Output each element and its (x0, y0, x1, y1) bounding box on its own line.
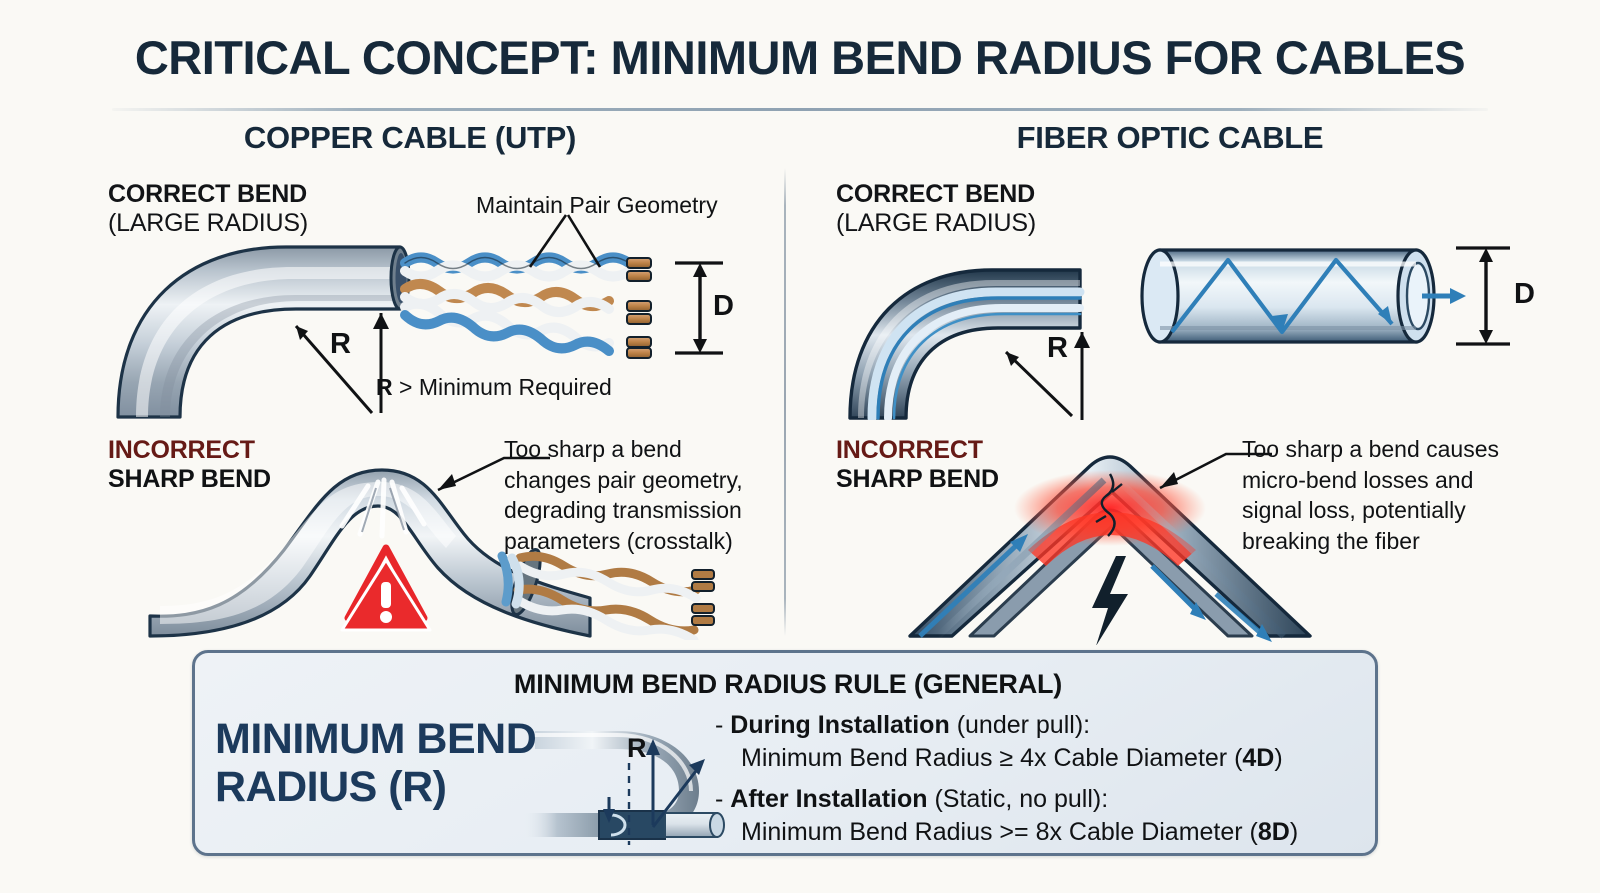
rule-item-after-title: After Installation (730, 785, 927, 813)
copper-incorrect-callout: Too sharp a bend changes pair geometry, … (504, 434, 772, 556)
rule-item-after-detail: Minimum Bend Radius >= 8x Cable Diameter… (715, 816, 1375, 849)
rule-item-during-detail: Minimum Bend Radius ≥ 4x Cable Diameter … (715, 742, 1375, 775)
title-divider (112, 108, 1488, 111)
warning-triangle-icon (342, 548, 430, 630)
rule-item-during-detail-prefix: Minimum Bend Radius ≥ 4x Cable Diameter … (741, 744, 1242, 772)
copper-diameter-letter: D (713, 290, 734, 323)
rule-item-during-detail-value: 4D (1242, 744, 1274, 772)
rule-item-after-suffix: (Static, no pull): (934, 785, 1108, 813)
infographic-root: CRITICAL CONCEPT: MINIMUM BEND RADIUS FO… (0, 0, 1600, 893)
fiber-correct-label-line1: CORRECT BEND (836, 180, 1036, 209)
fiber-correct-bend-illustration (820, 220, 1600, 420)
rule-item-after-marker: - (715, 785, 723, 813)
column-heading-copper: COPPER CABLE (UTP) (130, 120, 690, 156)
lightning-bolt-icon (1092, 556, 1128, 645)
rule-item-during-suffix: (under pull): (957, 711, 1090, 739)
rule-item-after-heading: - After Installation (Static, no pull): (715, 783, 1375, 816)
rule-box-inset-radius-letter: R (627, 733, 647, 764)
rule-item-during-title: During Installation (730, 711, 949, 739)
rule-item-during-marker: - (715, 711, 723, 739)
rule-item-after-detail-prefix: Minimum Bend Radius >= 8x Cable Diameter… (741, 818, 1258, 846)
minimum-bend-radius-rule-box: MINIMUM BEND RADIUS RULE (GENERAL) MINIM… (192, 650, 1378, 856)
rule-item-after-detail-value: 8D (1258, 818, 1290, 846)
copper-radius-note-symbol: R (376, 374, 393, 400)
column-heading-fiber: FIBER OPTIC CABLE (890, 120, 1450, 156)
maintain-pair-geometry-callout: Maintain Pair Geometry (476, 190, 718, 221)
rule-box-inset-diagram (513, 705, 725, 853)
fiber-radius-letter: R (1047, 332, 1068, 365)
twisted-pair-1 (405, 258, 651, 282)
rule-box-rules: - During Installation (under pull): Mini… (715, 709, 1375, 857)
rule-item-after-installation: - After Installation (Static, no pull): … (715, 783, 1375, 848)
rule-item-after-detail-suffix: ) (1290, 818, 1298, 846)
copper-twisted-pairs (405, 258, 651, 359)
inset-cable-left (523, 813, 599, 837)
fiber-cylinder-cutaway (1142, 250, 1466, 342)
rule-item-during-detail-suffix: ) (1274, 744, 1282, 772)
fiber-incorrect-callout: Too sharp a bend causes micro-bend losse… (1242, 434, 1532, 556)
fiber-diameter-letter: D (1514, 278, 1535, 311)
copper-radius-note: R > Minimum Required (376, 372, 612, 403)
rule-item-during-installation: - During Installation (under pull): Mini… (715, 709, 1375, 774)
rule-item-during-heading: - During Installation (under pull): (715, 709, 1375, 742)
twisted-pair-3 (405, 304, 651, 358)
page-title: CRITICAL CONCEPT: MINIMUM BEND RADIUS FO… (0, 30, 1600, 85)
rule-box-title: MINIMUM BEND RADIUS RULE (GENERAL) (195, 669, 1381, 700)
copper-radius-letter: R (330, 328, 351, 361)
copper-radius-note-text: > Minimum Required (399, 374, 612, 400)
